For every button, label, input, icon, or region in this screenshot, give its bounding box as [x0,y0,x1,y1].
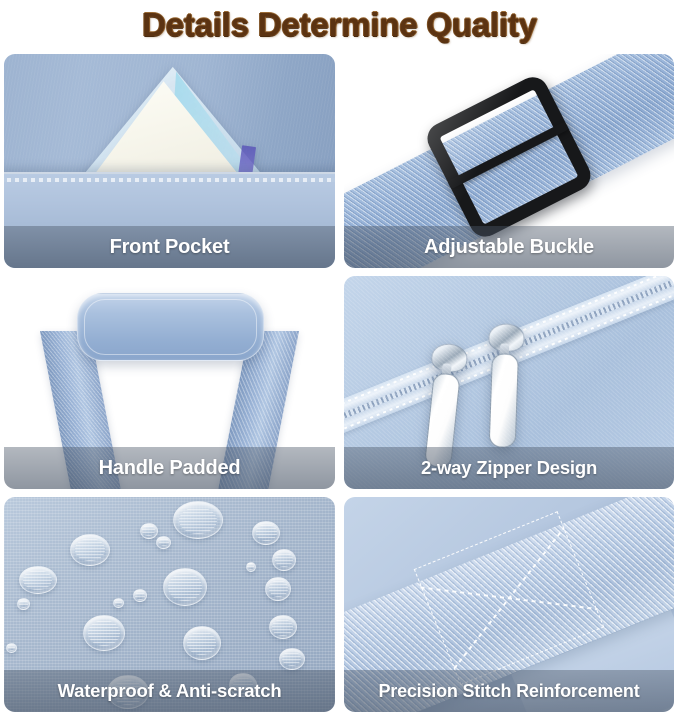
water-drop-icon [163,568,207,606]
water-drop-icon [272,549,296,571]
pocket-seam-stitching [4,178,335,182]
water-drop-icon [70,534,110,566]
panel-inner: Precision Stitch Reinforcement [344,497,674,712]
panel-caption: 2-way Zipper Design [344,447,674,489]
zipper-link [500,343,510,359]
water-drop-icon [279,648,305,670]
zipper-slider-body [488,323,525,352]
pocket-icon [74,67,273,187]
panel-inner: Adjustable Buckle [344,54,674,268]
feature-panel-front-pocket: Front Pocket [0,50,340,272]
water-drop-icon [252,521,280,545]
water-drop-icon [140,523,158,539]
zipper-stitch-top [344,276,674,421]
water-drop-icon [246,562,256,572]
feature-panel-handle-padded: Handle Padded [0,272,340,493]
zipper-pull-tab [489,353,519,448]
panel-inner: Handle Padded [4,276,335,489]
water-drop-icon [113,598,124,608]
handle-icon [77,293,264,361]
panel-inner: Waterproof & Anti-scratch [4,497,335,712]
panel-caption: Front Pocket [4,226,335,268]
water-drop-icon [156,536,171,549]
water-drop-icon [183,626,221,660]
panel-caption: Handle Padded [4,447,335,489]
water-drop-icon [173,501,223,539]
feature-panel-waterproof: Waterproof & Anti-scratch [0,493,340,716]
zipper-slider-body [430,342,469,374]
water-drop-icon [17,598,30,610]
water-drop-icon [265,577,291,601]
feature-panel-grid: Front Pocket Adjustable Buckle Handle Pa… [0,50,679,716]
zipper-track [344,276,674,446]
water-drop-icon [83,615,125,651]
feature-panel-adjustable-buckle: Adjustable Buckle [340,50,679,272]
panel-inner: Front Pocket [4,54,335,268]
feature-panel-two-way-zipper: 2-way Zipper Design [340,272,679,493]
water-drop-icon [133,589,147,602]
zipper-stitch-bottom [344,276,674,443]
panel-caption: Precision Stitch Reinforcement [344,670,674,712]
page-title-text: Details Determine Quality [142,6,537,44]
panel-inner: 2-way Zipper Design [344,276,674,489]
zipper-link [441,363,452,380]
feature-panel-precision-stitch: Precision Stitch Reinforcement [340,493,679,716]
water-drop-icon [6,643,17,653]
panel-caption: Adjustable Buckle [344,226,674,268]
water-drop-icon [269,615,297,639]
panel-caption: Waterproof & Anti-scratch [4,670,335,712]
zipper-teeth [344,276,674,434]
water-drop-icon [19,566,57,594]
page-title: Details Determine Quality [0,0,679,50]
